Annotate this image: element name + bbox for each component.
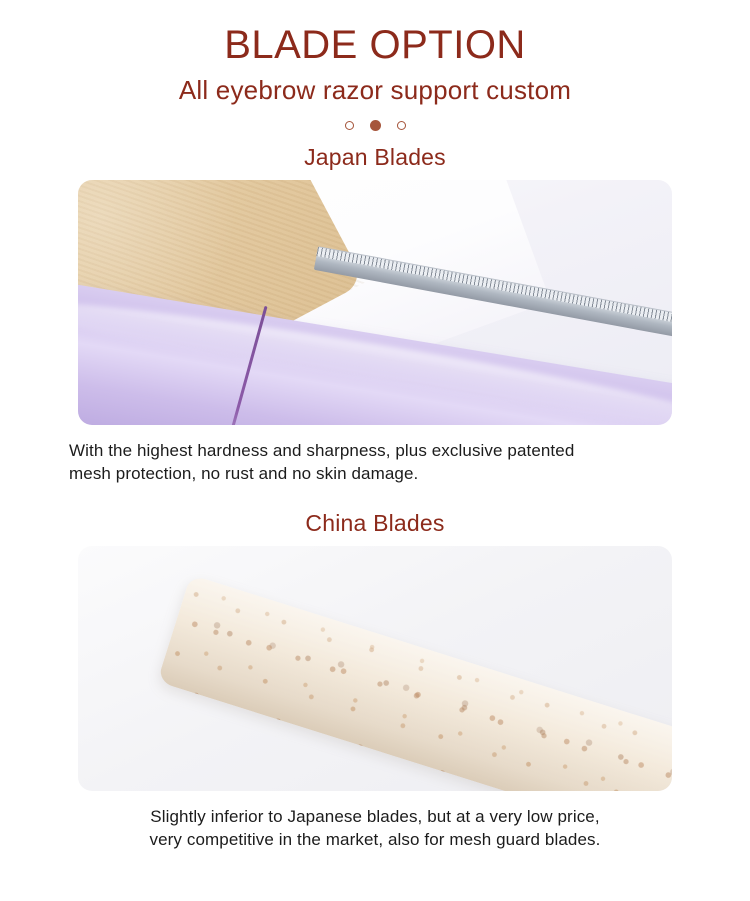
caption-japan-line-1: With the highest hardness and sharpness,…: [69, 439, 689, 462]
pagination-dot-3[interactable]: [397, 121, 406, 130]
caption-china: Slightly inferior to Japanese blades, bu…: [65, 805, 685, 851]
section-title-china: China Blades: [0, 509, 750, 537]
page-title: BLADE OPTION: [0, 22, 750, 68]
product-photo-china-blades: [78, 546, 672, 791]
page-header: BLADE OPTION All eyebrow razor support c…: [0, 0, 750, 106]
product-photo-japan-blades: [78, 180, 672, 425]
caption-china-line-1: Slightly inferior to Japanese blades, bu…: [65, 805, 685, 828]
speckled-razor-body: [157, 575, 672, 791]
section-title-japan: Japan Blades: [0, 143, 750, 171]
caption-china-line-2: very competitive in the market, also for…: [65, 828, 685, 851]
blade-option-page: BLADE OPTION All eyebrow razor support c…: [0, 0, 750, 901]
pagination-dot-1[interactable]: [345, 121, 354, 130]
page-subtitle: All eyebrow razor support custom: [0, 74, 750, 106]
caption-japan-line-2: mesh protection, no rust and no skin dam…: [69, 462, 689, 485]
pagination-dot-2-active[interactable]: [370, 120, 381, 131]
caption-japan: With the highest hardness and sharpness,…: [61, 439, 689, 485]
pagination-dots[interactable]: [0, 118, 750, 132]
